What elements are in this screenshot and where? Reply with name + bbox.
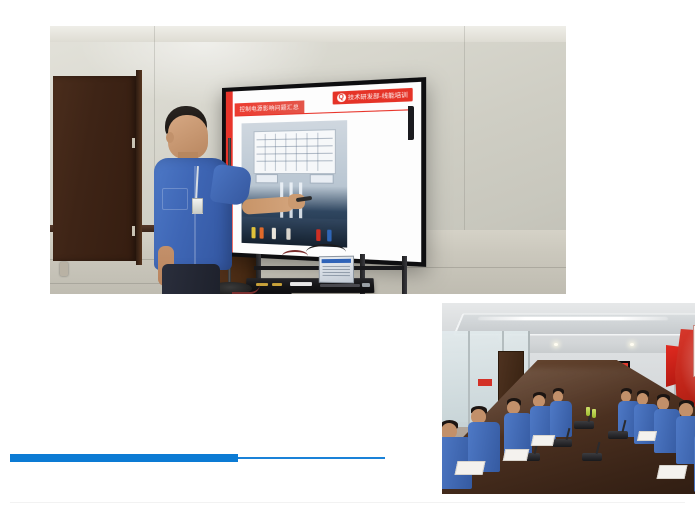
slide-logo-text: 技术研发部-线能培训 (348, 90, 408, 101)
display-bezel (408, 106, 414, 140)
panel-label-right (310, 174, 334, 184)
av-cable (306, 244, 346, 260)
notepad (503, 449, 530, 461)
accent-line (238, 457, 385, 459)
inset-photo-frame[interactable]: Conference room with staff in blue unifo… (439, 300, 695, 494)
notepad (531, 435, 555, 446)
glass-red-sign (478, 379, 492, 386)
ceiling-band (50, 26, 566, 42)
id-badge (192, 198, 203, 214)
ceiling-light-strip (477, 317, 668, 321)
inset-photo[interactable] (442, 303, 695, 494)
notepad (637, 431, 657, 441)
door-hinge (132, 138, 135, 148)
uniform-pocket (162, 188, 188, 210)
attendee (676, 401, 695, 469)
slide-logo: Q 技术研发部-线能培训 (332, 88, 412, 105)
desk-microphone (582, 453, 602, 461)
notepad (455, 461, 486, 475)
footer-divider (10, 502, 685, 503)
accent-bar (10, 454, 238, 462)
beverage-bottle (586, 407, 590, 416)
desk-microphone (608, 431, 628, 439)
desk-microphone (552, 439, 572, 447)
attendee (550, 389, 574, 441)
notepad (657, 465, 688, 479)
door-handle-icon (60, 262, 68, 276)
av-cable (282, 250, 308, 262)
presenter-trousers (162, 264, 220, 294)
room-door (53, 76, 140, 261)
main-photo[interactable]: 控制电源影响问题汇总 Q 技术研发部-线能培训 (50, 26, 566, 294)
door-hinge (132, 226, 135, 236)
beverage-bottle (592, 409, 596, 418)
downlight-icon (554, 343, 558, 346)
presenter-ear (166, 132, 174, 143)
cart-leg (402, 256, 407, 294)
desk-microphone (574, 421, 594, 429)
presenter (138, 106, 278, 294)
downlight-icon (630, 343, 634, 346)
logo-mark-icon: Q (337, 93, 346, 102)
slide-canvas: 控制电源影响问题汇总 Q 技术研发部-线能培训 (0, 0, 695, 507)
